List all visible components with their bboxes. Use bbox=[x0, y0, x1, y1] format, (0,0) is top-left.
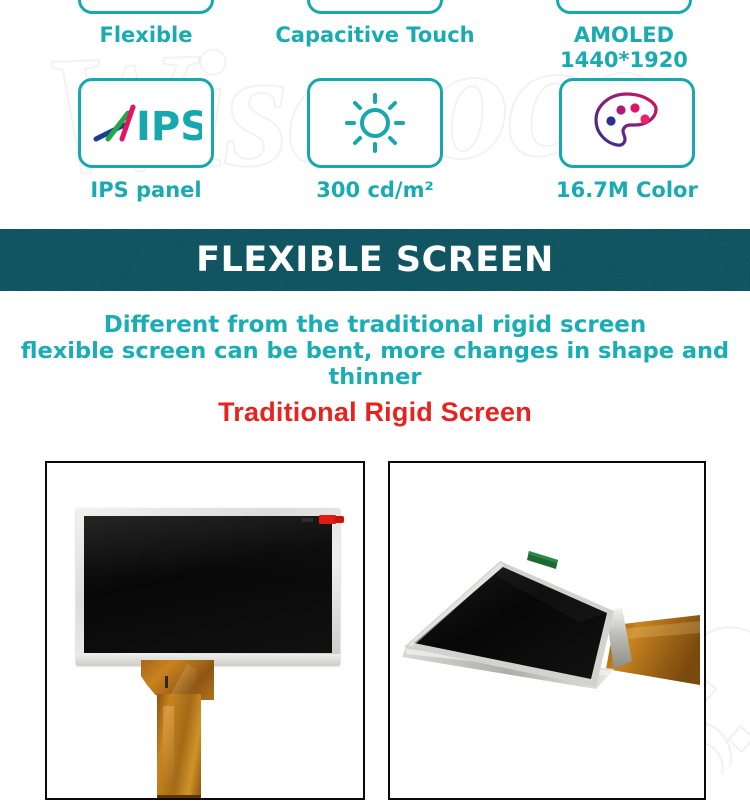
feature-ips-panel-label: IPS panel bbox=[90, 179, 201, 203]
lcd-screen-area bbox=[84, 516, 332, 653]
subtitle-line-1: Different from the traditional rigid scr… bbox=[0, 312, 750, 338]
feature-amoled-label-line1: AMOLED bbox=[574, 24, 674, 48]
flat-lcd-module-photo bbox=[45, 461, 365, 800]
tilted-lcd-module-photo bbox=[388, 461, 706, 800]
ips-icon: IPS bbox=[90, 95, 202, 151]
ribbon-notch bbox=[165, 676, 168, 688]
flex-panel-icon bbox=[78, 0, 214, 14]
flexible-screen-banner: FLEXIBLE SCREEN bbox=[0, 229, 750, 291]
ribbon-connector-tip bbox=[157, 795, 201, 800]
feature-ips-panel: IPS IPS panel bbox=[78, 78, 214, 203]
lcd-corner-marking bbox=[302, 518, 313, 522]
feature-brightness-label: 300 cd/m² bbox=[316, 179, 433, 203]
feature-color-depth-label: 16.7M Color bbox=[556, 179, 698, 203]
lcd-panel-flat bbox=[76, 508, 340, 665]
section-heading-traditional-rigid-screen: Traditional Rigid Screen bbox=[0, 397, 750, 428]
feature-flexible: Flexible bbox=[78, 0, 214, 48]
product-detail-page: Wisecoco Flexible Capacitive Touch AMOLE… bbox=[0, 0, 750, 800]
feature-brightness: 300 cd/m² bbox=[307, 78, 443, 203]
color-palette-icon bbox=[590, 91, 664, 155]
feature-capacitive-touch: Capacitive Touch bbox=[307, 0, 443, 48]
fpc-ribbon-cable bbox=[141, 660, 214, 798]
feature-grid: Flexible Capacitive Touch AMOLED 1440*19… bbox=[0, 0, 750, 222]
touch-icon bbox=[307, 0, 443, 14]
lcd-panel-tilted bbox=[400, 529, 700, 729]
svg-text:IPS: IPS bbox=[136, 104, 202, 150]
feature-flexible-label: Flexible bbox=[99, 24, 192, 48]
subtitle-line-2: flexible screen can be bent, more change… bbox=[0, 338, 750, 390]
brightness-sun-icon bbox=[344, 92, 406, 154]
banner-title: FLEXIBLE SCREEN bbox=[0, 229, 750, 291]
amoled-icon bbox=[556, 0, 692, 14]
subtitle-block: Different from the traditional rigid scr… bbox=[0, 312, 750, 390]
feature-amoled: AMOLED 1440*1920 bbox=[556, 0, 692, 72]
feature-color-depth: 16.7M Color bbox=[556, 78, 698, 203]
feature-amoled-label-line2: 1440*1920 bbox=[560, 49, 688, 73]
feature-capacitive-touch-label: Capacitive Touch bbox=[275, 24, 474, 48]
ribbon-stem bbox=[157, 694, 201, 798]
lcd-red-tab bbox=[319, 515, 336, 524]
